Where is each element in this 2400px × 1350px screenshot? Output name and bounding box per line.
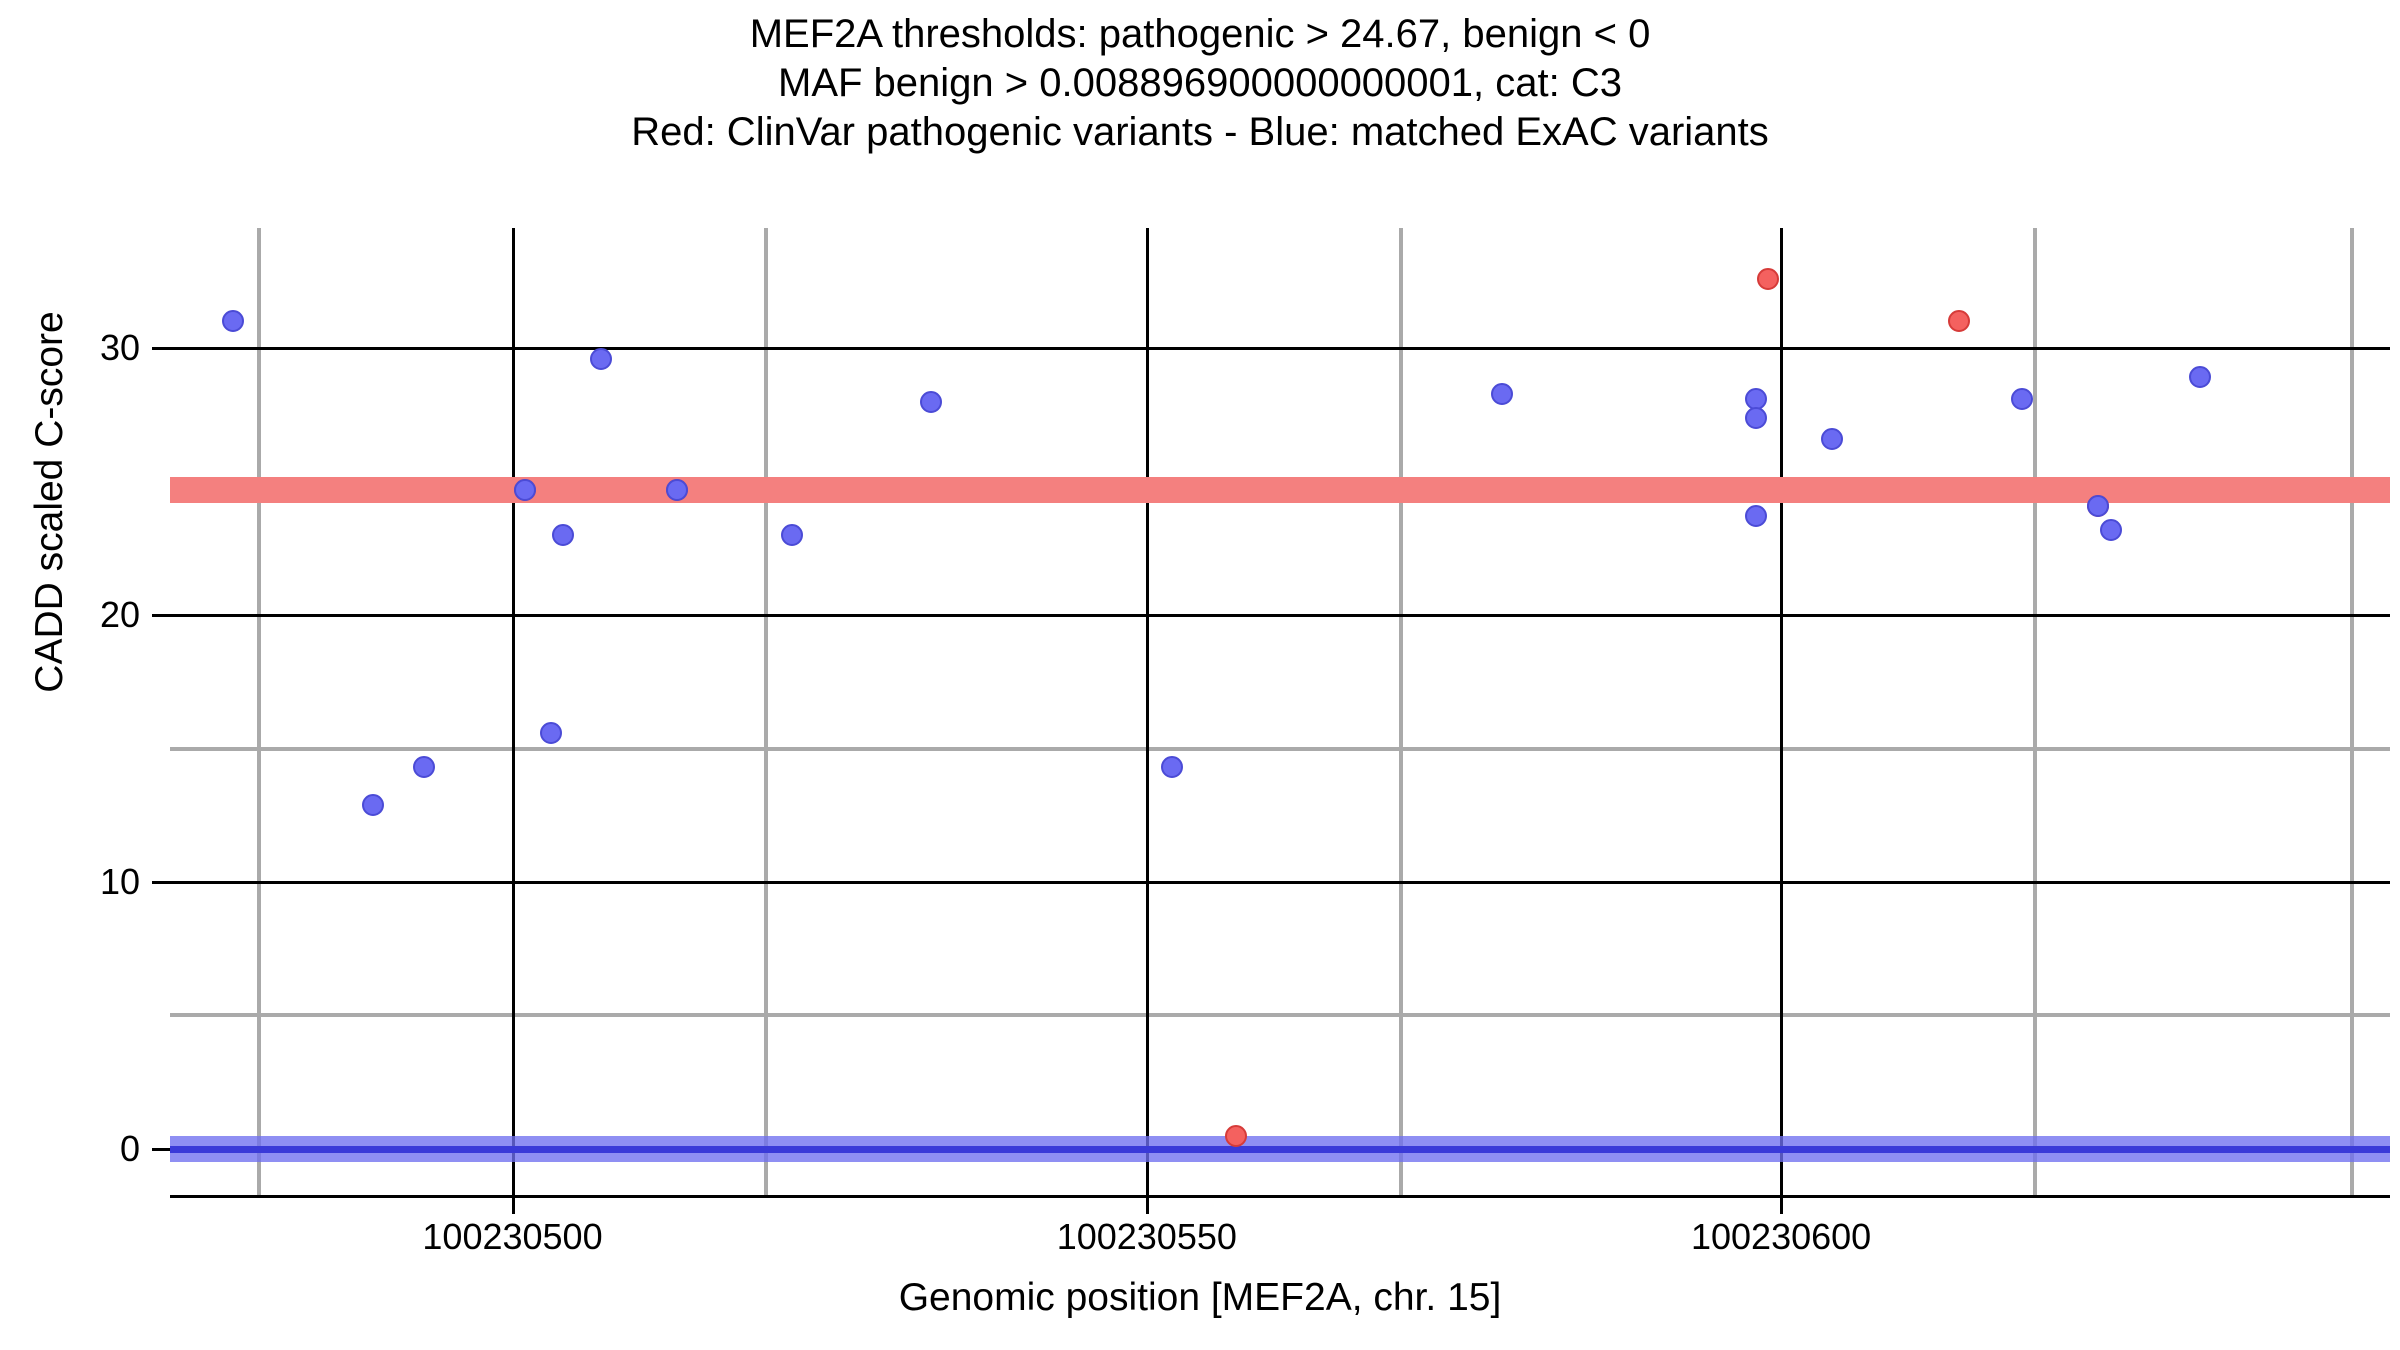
x-axis-tick [512,1197,515,1214]
data-point-exac [413,756,435,778]
y-axis-tick-label: 30 [0,327,140,369]
x-axis-label: Genomic position [MEF2A, chr. 15] [0,1276,2400,1320]
x-axis-tick-label: 100230500 [422,1216,602,1258]
x-axis-tick [1780,1197,1783,1214]
y-axis-tick-label: 0 [0,1128,140,1170]
data-point-exac [222,310,244,332]
data-point-exac [2011,388,2033,410]
y-gridline-minor [170,1013,2390,1017]
data-point-exac [666,479,688,501]
data-point-exac [2087,495,2109,517]
y-axis-label: CADD scaled C-score [28,152,72,852]
y-gridline-minor [170,747,2390,751]
data-point-exac [362,794,384,816]
data-point-exac [1491,383,1513,405]
x-gridline-major [1780,228,1783,1197]
data-point-exac [920,391,942,413]
benign-threshold-line [170,1146,2390,1153]
data-point-exac [781,524,803,546]
data-point-clinvar [1225,1125,1247,1147]
chart-title-line-3: Red: ClinVar pathogenic variants - Blue:… [0,108,2400,157]
data-point-exac [1821,428,1843,450]
y-axis-tick [152,881,170,884]
x-gridline-minor [764,228,768,1197]
data-point-exac [552,524,574,546]
data-point-exac [1745,407,1767,429]
x-axis-tick-label: 100230600 [1691,1216,1871,1258]
y-gridline-major [170,881,2390,884]
data-point-clinvar [1948,310,1970,332]
x-gridline-major [512,228,515,1197]
x-gridline-minor [2350,228,2354,1197]
x-gridline-major [1146,228,1149,1197]
y-axis-tick-label: 10 [0,861,140,903]
x-axis-tick-label: 100230550 [1057,1216,1237,1258]
data-point-exac [1745,505,1767,527]
chart-title-line-2: MAF benign > 0.008896900000000001, cat: … [0,59,2400,108]
data-point-exac [2100,519,2122,541]
x-gridline-minor [257,228,261,1197]
data-point-exac [2189,366,2211,388]
y-axis-tick [152,614,170,617]
data-point-exac [540,722,562,744]
chart-title: MEF2A thresholds: pathogenic > 24.67, be… [0,10,2400,157]
data-point-exac [590,348,612,370]
y-axis-tick [152,1148,170,1151]
data-point-clinvar [1757,268,1779,290]
y-axis-tick [152,347,170,350]
chart-title-line-1: MEF2A thresholds: pathogenic > 24.67, be… [0,10,2400,59]
x-axis-tick [1146,1197,1149,1214]
data-point-exac [1161,756,1183,778]
x-axis-line [170,1195,2390,1198]
plot-area [170,228,2390,1197]
chart-figure: MEF2A thresholds: pathogenic > 24.67, be… [0,0,2400,1350]
x-gridline-minor [2033,228,2037,1197]
y-gridline-major [170,614,2390,617]
y-axis-tick-label: 20 [0,594,140,636]
x-gridline-minor [1399,228,1403,1197]
y-gridline-major [170,347,2390,350]
pathogenic-threshold-band [170,477,2390,503]
data-point-exac [514,479,536,501]
